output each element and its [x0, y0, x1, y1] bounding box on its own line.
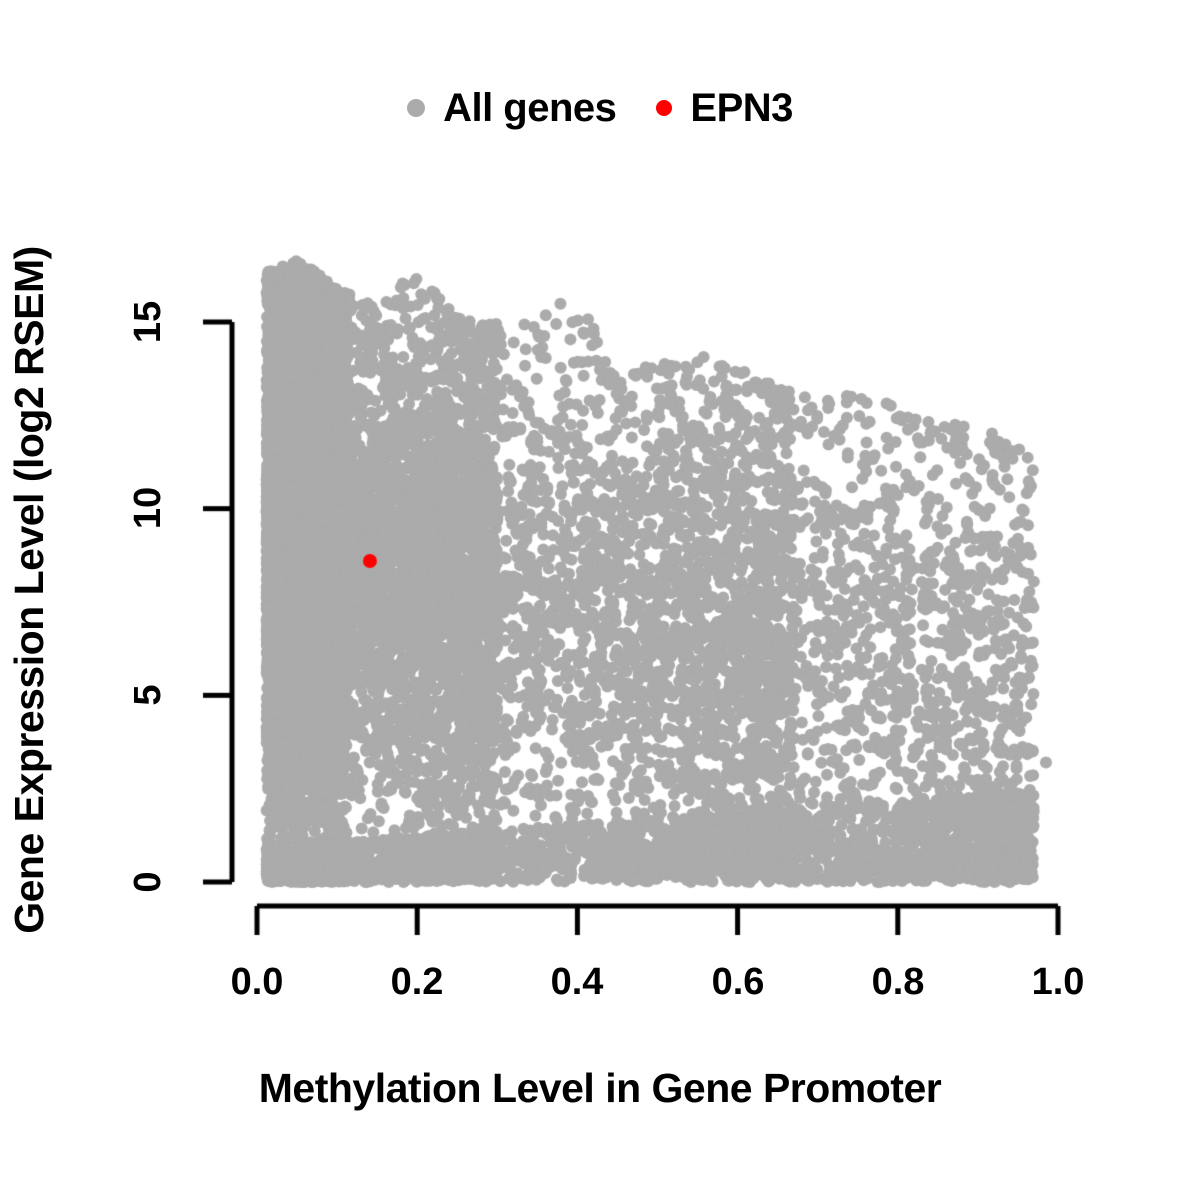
y-axis-label-wrapper: Gene Expression Level (log2 RSEM): [4, 180, 54, 1000]
x-axis-label: Methylation Level in Gene Promoter: [0, 1068, 1200, 1109]
xtick-label-0: 0.0: [197, 963, 317, 1001]
xtick-label-4: 0.8: [838, 963, 958, 1001]
scatter-plot-figure: All genes EPN3 0.0 0.2 0.4 0.6 0.8 1.0 0…: [0, 0, 1200, 1200]
xtick-label-5: 1.0: [998, 963, 1118, 1001]
xtick-label-3: 0.6: [678, 963, 798, 1001]
ytick-label-10: 10: [125, 448, 171, 568]
y-axis-label: Gene Expression Level (log2 RSEM): [9, 246, 50, 934]
xtick-label-1: 0.2: [357, 963, 477, 1001]
ytick-label-15: 15: [125, 262, 171, 382]
xtick-label-2: 0.4: [517, 963, 637, 1001]
ytick-label-5: 5: [125, 635, 171, 755]
ytick-label-0: 0: [125, 822, 171, 942]
plot-area: [0, 0, 1200, 1200]
